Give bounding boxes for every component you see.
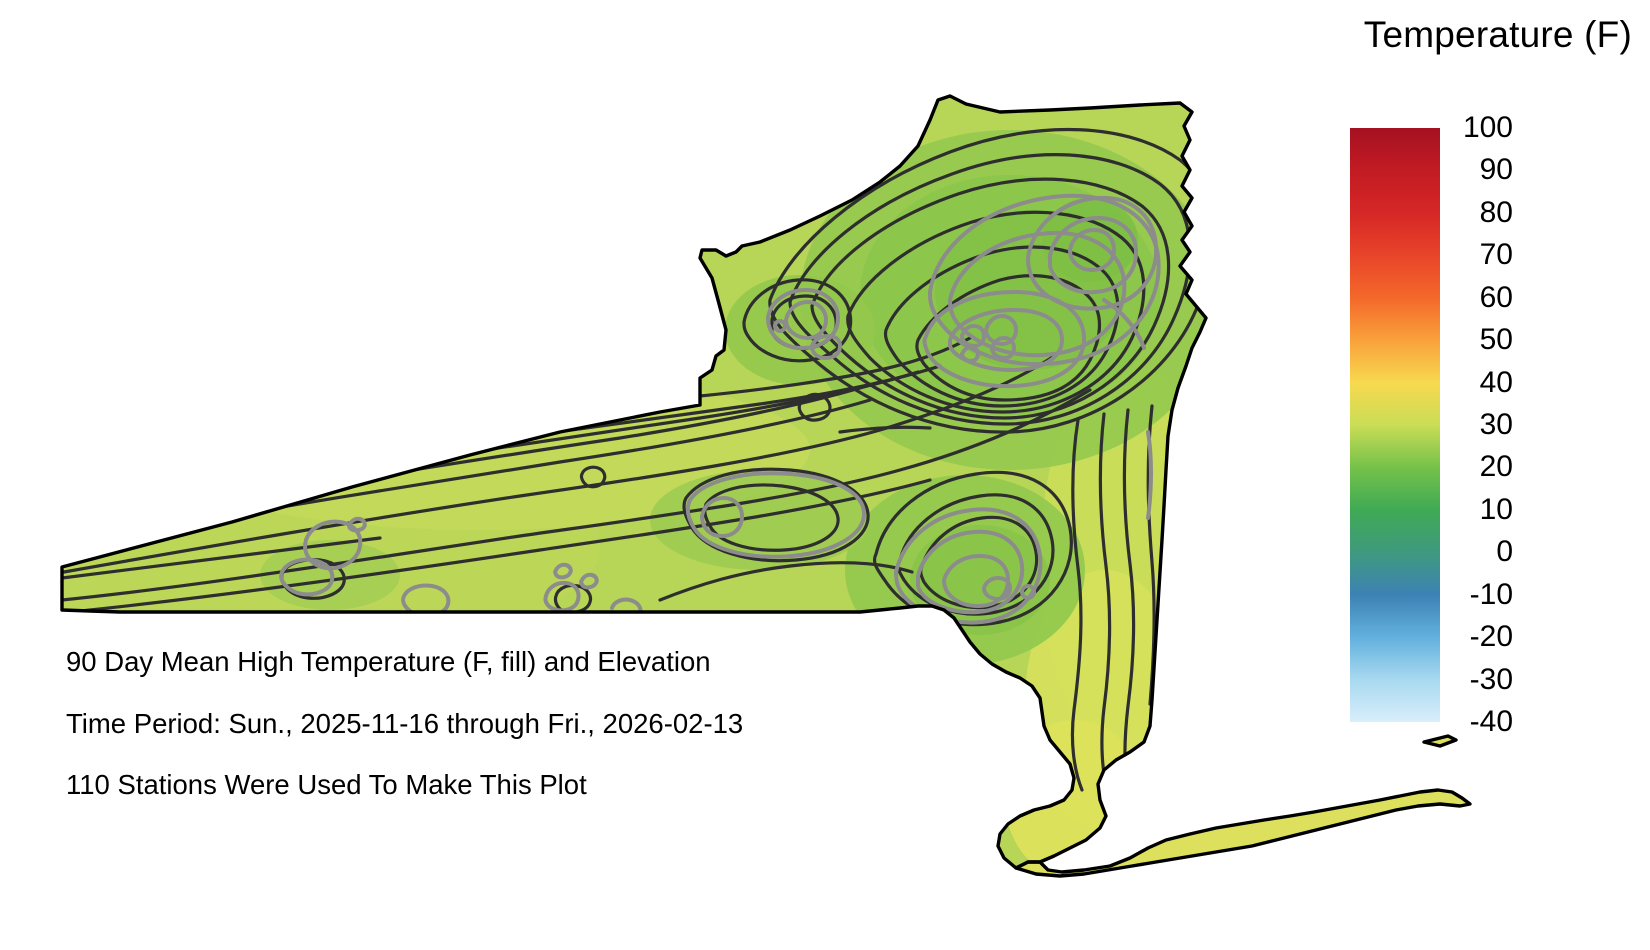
colorbar[interactable]: [1350, 128, 1440, 722]
colorbar-tick-50: 50: [1449, 325, 1513, 355]
colorbar-tick-40: 40: [1449, 368, 1513, 398]
colorbar-tick-labels: 1009080706050403020100-10-20-30-40: [1449, 128, 1569, 722]
colorbar-tick-20: 20: [1449, 452, 1513, 482]
caption-line-time-period: Time Period: Sun., 2025-11-16 through Fr…: [66, 710, 926, 738]
colorbar-tick-60: 60: [1449, 283, 1513, 313]
colorbar-tick-90: 90: [1449, 155, 1513, 185]
colorbar-tick-neg40: -40: [1449, 707, 1513, 737]
colorbar-tick-100: 100: [1449, 113, 1513, 143]
colorbar-tick-80: 80: [1449, 198, 1513, 228]
plot-canvas: Temperature (F): [0, 0, 1650, 950]
colorbar-tick-neg10: -10: [1449, 580, 1513, 610]
colorbar-tick-neg20: -20: [1449, 622, 1513, 652]
fill-band-catskills-core: [910, 525, 1050, 635]
caption-line-title: 90 Day Mean High Temperature (F, fill) a…: [66, 648, 926, 676]
colorbar-tick-70: 70: [1449, 240, 1513, 270]
colorbar-tick-30: 30: [1449, 410, 1513, 440]
colorbar-tick-neg30: -30: [1449, 665, 1513, 695]
caption-block: 90 Day Mean High Temperature (F, fill) a…: [66, 648, 926, 799]
colorbar-tick-0: 0: [1449, 537, 1513, 567]
colorbar-tick-10: 10: [1449, 495, 1513, 525]
caption-line-station-count: 110 Stations Were Used To Make This Plot: [66, 771, 926, 799]
colorbar-gradient: [1350, 128, 1440, 722]
